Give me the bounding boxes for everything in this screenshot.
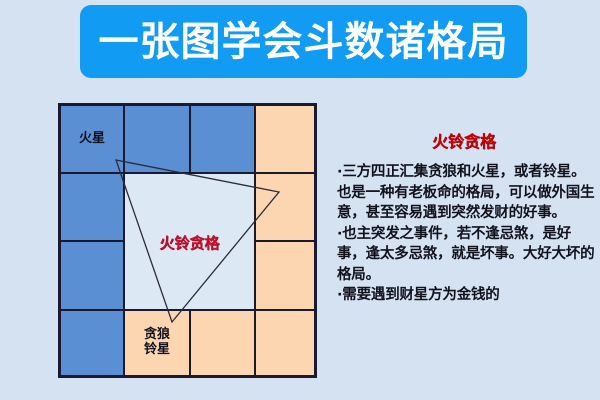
chart-cell-label: 火星 bbox=[79, 132, 105, 147]
chart-cell-r0c0[interactable]: 火星 bbox=[60, 105, 124, 173]
center-palace: 火铃贪格 bbox=[124, 173, 255, 310]
panel-paragraph-3: ·需要遇到财星方为金钱的 bbox=[333, 285, 595, 306]
page-title: 一张图学会斗数诸格局 bbox=[99, 22, 509, 62]
chart-cell-r3c3[interactable] bbox=[255, 310, 315, 376]
chart-cell-r1c3[interactable] bbox=[255, 173, 315, 241]
description-panel: 火铃贪格 ·三方四正汇集贪狼和火星，或者铃星。也是一种有老板命的格局，可以做外国… bbox=[333, 100, 595, 375]
center-palace-label: 火铃贪格 bbox=[159, 232, 219, 253]
panel-heading: 火铃贪格 bbox=[333, 128, 595, 152]
chart-cell-r0c3[interactable] bbox=[255, 105, 315, 173]
chart-cell-r3c2[interactable] bbox=[190, 310, 255, 376]
chart-cell-r3c1[interactable]: 贪狼 铃星 bbox=[124, 310, 190, 376]
panel-paragraph-2: ·也主突发之事件，若不逢忌煞，是好事，逢太多忌煞，就是坏事。大好大坏的格局。 bbox=[333, 224, 595, 286]
title-banner: 一张图学会斗数诸格局 bbox=[80, 5, 527, 78]
chart-cell-r0c2[interactable] bbox=[190, 105, 255, 173]
chart-cell-r1c0[interactable] bbox=[60, 173, 124, 241]
panel-paragraph-1: ·三方四正汇集贪狼和火星，或者铃星。也是一种有老板命的格局，可以做外国生意，甚至… bbox=[333, 162, 595, 224]
chart-cell-label: 贪狼 铃星 bbox=[144, 328, 170, 358]
chart-cell-r2c3[interactable] bbox=[255, 241, 315, 310]
ziwei-chart-grid: 火星 贪狼 铃星 火铃贪格 bbox=[58, 103, 317, 378]
chart-cell-r0c1[interactable] bbox=[124, 105, 190, 173]
chart-cell-r3c0[interactable] bbox=[60, 310, 124, 376]
chart-cell-r2c0[interactable] bbox=[60, 241, 124, 310]
